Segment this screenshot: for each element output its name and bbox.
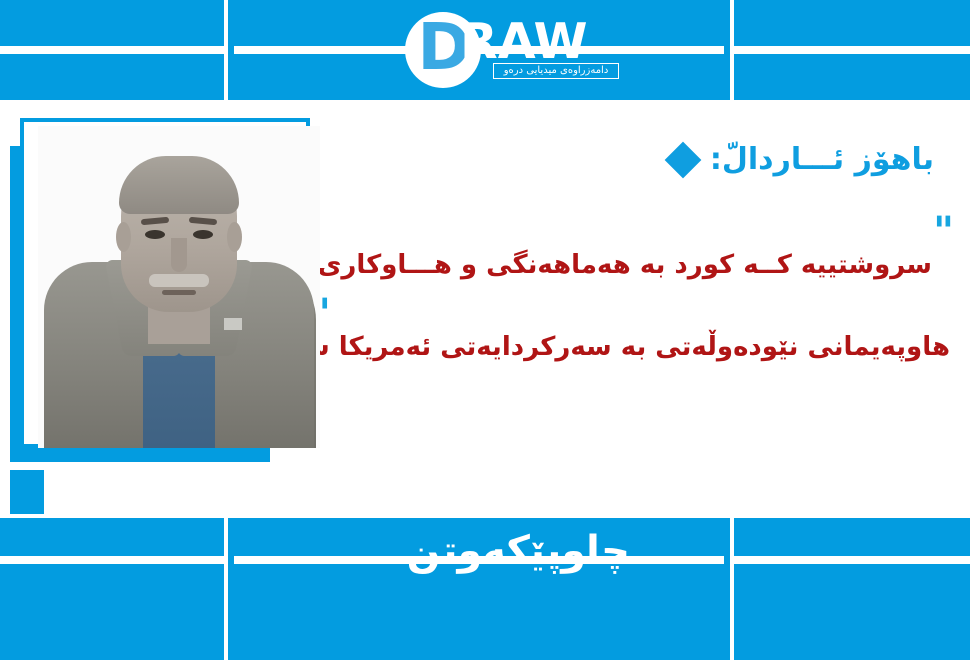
quote-line-1: سروشتییە کــە کورد بە هەماهەنگی و هـــاو… <box>230 250 932 280</box>
bottom-banner-divider-left <box>224 518 228 660</box>
top-banner-rule-left <box>0 46 224 54</box>
logo-subtitle: دامەزراوەی میدیایی درەو <box>493 63 619 79</box>
quote-block: " سروشتییە کــە کورد بە هەماهەنگی و هـــ… <box>300 222 950 392</box>
logo-wordmark: RAW <box>460 17 588 66</box>
portrait-nose <box>171 238 187 272</box>
portrait-eye-right <box>193 230 213 239</box>
bottom-banner: چاوپێکەوتن <box>0 518 970 660</box>
draw-logo[interactable]: D RAW دامەزراوەی میدیایی درەو <box>405 8 630 92</box>
portrait-frame-accent-bottom <box>10 448 270 462</box>
top-banner-rule-right <box>734 46 970 54</box>
headline: باهۆز ئـــاردالّ: <box>670 142 934 177</box>
top-banner-divider-right <box>730 0 734 100</box>
portrait-ear-right <box>227 222 242 252</box>
quote-open-mark-icon: " <box>933 218 954 246</box>
portrait-eye-left <box>145 230 165 239</box>
headline-text: باهۆز ئـــاردالّ: <box>710 142 934 177</box>
bottom-banner-rule-right <box>734 556 970 564</box>
portrait-ear-left <box>116 222 131 252</box>
portrait-badge-icon <box>224 318 242 330</box>
portrait-frame-accent-stub <box>10 470 44 514</box>
top-banner-divider-left <box>224 0 228 100</box>
portrait-frame <box>20 118 310 448</box>
top-banner: D RAW دامەزراوەی میدیایی درەو <box>0 0 970 100</box>
bottom-banner-rule-left <box>0 556 224 564</box>
portrait-photo <box>38 126 320 448</box>
bottom-banner-notch-left <box>224 498 228 520</box>
poster-canvas: D RAW دامەزراوەی میدیایی درەو باهۆز ئـــ… <box>0 0 970 660</box>
portrait-mouth <box>162 290 196 295</box>
portrait-moustache <box>149 274 209 287</box>
bottom-banner-notch-right <box>730 498 734 520</box>
diamond-bullet-icon <box>664 141 701 178</box>
bottom-banner-divider-right <box>730 518 734 660</box>
portrait-block: باهــۆز ئەردالّ <box>10 118 310 518</box>
footer-title: چاوپێکەوتن <box>407 528 630 574</box>
